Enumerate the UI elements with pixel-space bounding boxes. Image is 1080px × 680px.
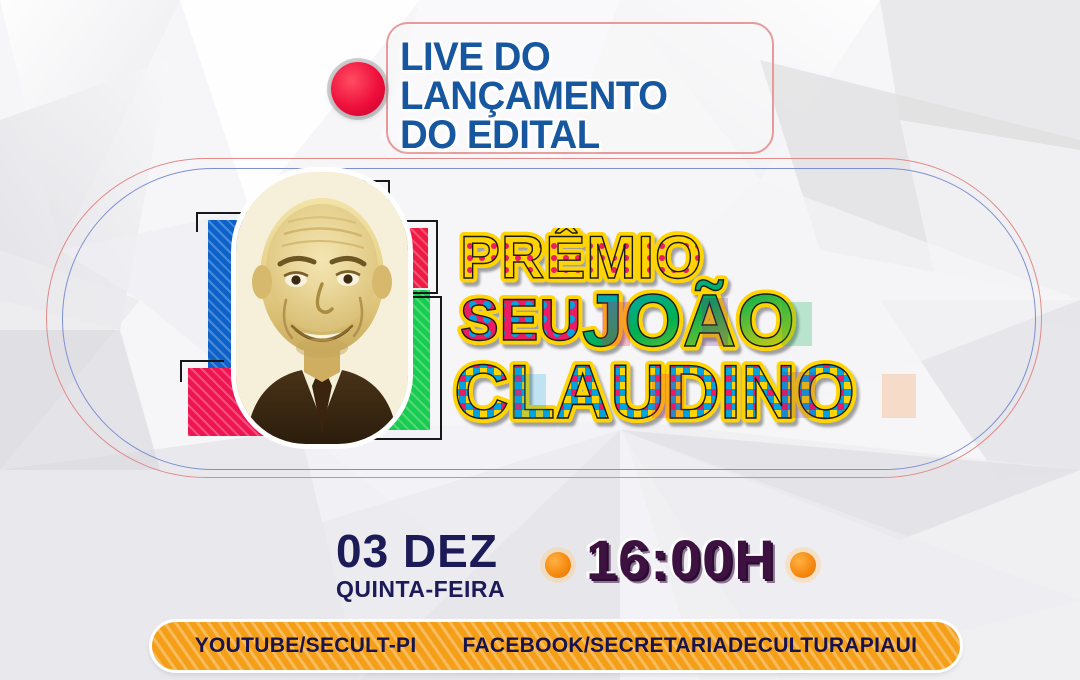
header-line-1: LIVE DO (400, 38, 765, 77)
orange-dot-right-icon (790, 552, 816, 578)
award-title-artwork: PRÊMIO SEU JOÃO CLAUDINO PRÊMIO SEU JOÃO… (452, 228, 982, 436)
event-date-block: 03 DEZ QUINTA-FEIRA (336, 530, 505, 603)
portrait-illustration (236, 172, 408, 444)
orange-dot-left-icon (545, 552, 571, 578)
channel-youtube[interactable]: YOUTUBE/SECULT-PI (195, 634, 417, 658)
event-time: 16:00H (586, 527, 776, 592)
award-logo (180, 172, 448, 452)
live-record-dot-icon (331, 62, 385, 116)
header-line-3: DO EDITAL (400, 116, 765, 155)
award-title: PRÊMIO SEU JOÃO CLAUDINO PRÊMIO SEU JOÃO… (452, 228, 982, 436)
event-weekday: QUINTA-FEIRA (336, 576, 505, 603)
header-line-2: LANÇAMENTO (400, 77, 765, 116)
social-channels-bar: YOUTUBE/SECULT-PI FACEBOOK/SECRETARIADEC… (152, 622, 960, 670)
event-date: 03 DEZ (336, 530, 505, 574)
portrait-photo (236, 172, 408, 444)
svg-text:SEU: SEU (460, 288, 582, 353)
header-title: LIVE DO LANÇAMENTO DO EDITAL (400, 38, 765, 156)
lineart-bracket-5 (180, 360, 224, 382)
event-poster: LIVE DO LANÇAMENTO DO EDITAL (0, 0, 1080, 680)
channel-facebook[interactable]: FACEBOOK/SECRETARIADECULTURAPIAUI (462, 634, 917, 658)
